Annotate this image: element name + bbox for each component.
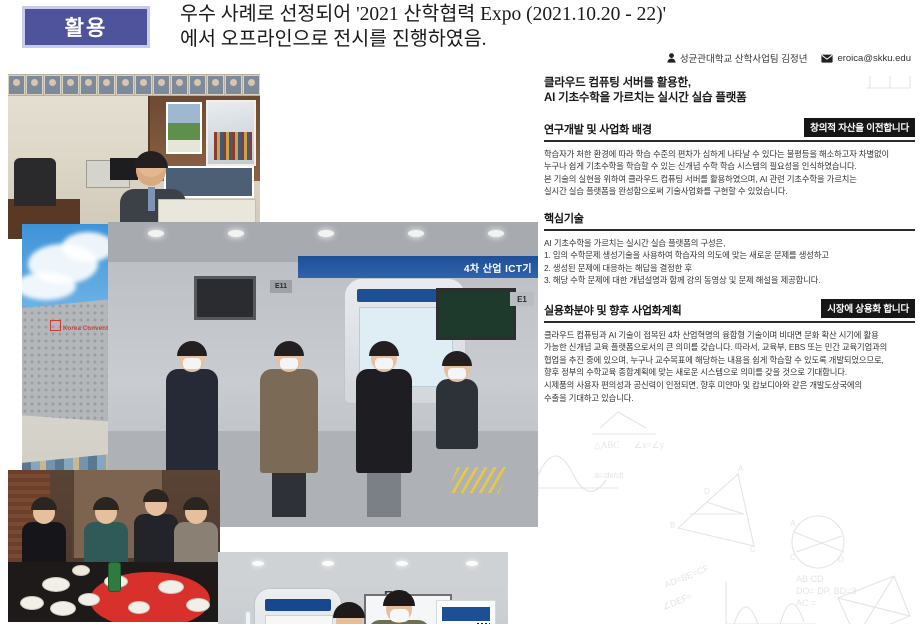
visitor-2 — [260, 345, 318, 517]
paragraph-line: 시제품의 사용자 편의성과 공신력이 인정되면, 향후 미얀마 및 캄보디아와 … — [544, 379, 915, 392]
office-chair — [14, 158, 56, 206]
paragraph-line: 실시간 실습 플랫폼을 완성함으로써 기술사업화를 구현할 수 있었습니다. — [544, 185, 915, 198]
paragraph-line: 누구나 쉽게 기초수학을 학습할 수 있는 신개념 수학 학습 시스템의 필요성… — [544, 160, 915, 173]
green-screen-tv — [436, 288, 516, 340]
paragraph-line: 1. 임의 수학문제 생성기술을 사용하여 학습자의 의도에 맞는 새로운 문제… — [544, 249, 915, 262]
paragraph-line: AI 기초수학을 가르치는 실시간 실습 플랫폼의 구성은, — [544, 237, 915, 250]
paragraph-line: 가능한 신개념 교육 플랫폼으로서의 큰 의미를 갖습니다. 따라서, 교육부,… — [544, 341, 915, 354]
section-title: 핵심기술 — [544, 210, 584, 226]
books — [214, 132, 252, 160]
svg-text:B: B — [670, 521, 675, 530]
wall-poster — [166, 102, 202, 154]
office-interview-photo — [8, 74, 260, 239]
section-rule — [544, 229, 915, 231]
paragraph-line: 3. 해당 수학 문제에 대한 개념설명과 함께 강의 동영상 및 문제 해설을… — [544, 274, 915, 287]
booth-top-banner: 4차 산업 ICT기 — [298, 256, 538, 278]
category-badge-label: 활용 — [65, 12, 108, 42]
svg-text:A: A — [790, 519, 796, 528]
paragraph-line: 협업을 추진 중에 있으며, 누구나 교수목표에 해당하는 내용을 쉽게 학습할… — [544, 354, 915, 367]
svg-text:a=dv/dt: a=dv/dt — [594, 470, 624, 480]
booth-staff — [436, 355, 478, 449]
section-title: 실용화분야 및 향후 사업화계획 — [544, 302, 682, 318]
report-title: 클라우드 컴퓨팅 서버를 활용한, AI 기초수학을 가르치는 실시간 실습 플… — [544, 76, 915, 106]
envelope-icon — [821, 54, 833, 63]
visitor-3 — [356, 345, 412, 517]
byline-email[interactable]: eroica@skku.edu — [821, 53, 911, 64]
green-bottle — [108, 562, 121, 592]
e12-booth-photo: E12 — [218, 552, 508, 624]
photo-collage: Korea Convention Center 2021 산학협력EXPO 20… — [0, 74, 538, 624]
svg-text:C: C — [790, 553, 796, 562]
svg-text:D: D — [838, 555, 844, 564]
paragraph-line: 수출을 기대하고 있습니다. — [544, 392, 915, 405]
page-title: 우수 사례로 선정되어 '2021 산학협력 Expo (2021.10.20 … — [180, 2, 880, 52]
info-poster — [436, 600, 496, 624]
wall-monitor — [194, 276, 256, 320]
poster-page: 활용 우수 사례로 선정되어 '2021 산학협력 Expo (2021.10.… — [0, 0, 919, 624]
section-background: 연구개발 및 사업화 배경 창의적 자산을 이전합니다 학습자가 처한 환경에 … — [544, 118, 915, 198]
svg-text:AB CD: AB CD — [796, 574, 824, 584]
report-column: △ABC ∠x=∠y a=dv/dt D A B C AD=BE=CF ∠DEF… — [538, 76, 919, 624]
booth-sign-right: E1 — [510, 292, 534, 306]
svg-text:C: C — [750, 545, 756, 554]
svg-text:AD=BE=CF: AD=BE=CF — [663, 563, 711, 590]
report-content: 클라우드 컴퓨팅 서버를 활용한, AI 기초수학을 가르치는 실시간 실습 플… — [538, 76, 919, 404]
paragraph-line: 본 기술의 실현을 위하여 클라우드 컴퓨팅 서버를 활용하였으며, AI 관련… — [544, 173, 915, 186]
booth-sign-e11: E11 — [270, 280, 292, 293]
dinner-person-3 — [134, 493, 178, 566]
headline-line-2: 에서 오프라인으로 전시를 진행하였음. — [180, 27, 880, 52]
e12-visitor-1 — [326, 607, 372, 624]
svg-text:DO= DP, BD=3: DO= DP, BD=3 — [796, 586, 856, 596]
section-body: 학습자가 처한 환경에 따라 학습 수준의 편차가 심하게 나타날 수 있다는 … — [544, 148, 915, 198]
svg-text:D: D — [704, 487, 710, 496]
svg-text:∠x=∠y: ∠x=∠y — [634, 440, 665, 450]
e12-visitor-2 — [368, 595, 430, 624]
paragraph-line: 학습자가 처한 환경에 따라 학습 수준의 편차가 심하게 나타날 수 있다는 … — [544, 148, 915, 161]
booth-banner-text: 4차 산업 ICT기 — [464, 260, 532, 275]
section-rule — [544, 140, 915, 142]
section-core-technology: 핵심기술 AI 기초수학을 가르치는 실시간 실습 플랫폼의 구성은, 1. 임… — [544, 210, 915, 287]
paragraph-line: 2. 생성된 문제에 대응하는 해답을 결정한 후 — [544, 262, 915, 275]
author-name: 성균관대학교 산학사업팀 김정년 — [680, 51, 808, 65]
category-badge: 활용 — [22, 6, 150, 48]
section-pill-badge: 창의적 자산을 이전합니다 — [804, 118, 915, 137]
section-rule — [544, 321, 915, 323]
report-title-line-1: 클라우드 컴퓨팅 서버를 활용한, — [544, 76, 915, 91]
svg-text:A: A — [738, 464, 744, 473]
svg-text:△ABC: △ABC — [594, 440, 619, 450]
svg-text:AC =: AC = — [796, 598, 816, 608]
section-pill-badge: 시장에 상용화 합니다 — [821, 299, 915, 318]
floor-marking — [447, 467, 510, 493]
report-title-line-2: AI 기초수학을 가르치는 실시간 실습 플랫폼 — [544, 91, 915, 106]
svg-text:∠DEF=: ∠DEF= — [661, 591, 694, 612]
page-header: 활용 우수 사례로 선정되어 '2021 산학협력 Expo (2021.10.… — [0, 0, 919, 74]
team-dinner-photo — [8, 470, 220, 622]
paragraph-line: 클라우드 컴퓨팅과 AI 기술이 접목된 4차 산업혁명의 융합형 기술이며 비… — [544, 329, 915, 342]
section-title: 연구개발 및 사업화 배경 — [544, 121, 652, 137]
paragraph-line: 향후 정부의 수학교육 종합계획에 맞는 새로운 시스템으로 의미를 갖을 것으… — [544, 366, 915, 379]
section-body: AI 기초수학을 가르치는 실시간 실습 플랫폼의 구성은, 1. 임의 수학문… — [544, 237, 915, 287]
headline-line-1: 우수 사례로 선정되어 '2021 산학협력 Expo (2021.10.20 … — [180, 2, 880, 27]
byline-author: 성균관대학교 산학사업팀 김정년 — [667, 51, 808, 65]
person-icon — [667, 53, 676, 63]
byline: 성균관대학교 산학사업팀 김정년 eroica@skku.edu — [667, 51, 911, 65]
portrait-frame-row — [8, 74, 260, 96]
email-address: eroica@skku.edu — [837, 53, 911, 64]
section-body: 클라우드 컴퓨팅과 AI 기술이 접목된 4차 산업혁명의 융합형 기술이며 비… — [544, 329, 915, 405]
section-commercialization: 실용화분야 및 향후 사업화계획 시장에 상용화 합니다 클라우드 컴퓨팅과 A… — [544, 299, 915, 404]
